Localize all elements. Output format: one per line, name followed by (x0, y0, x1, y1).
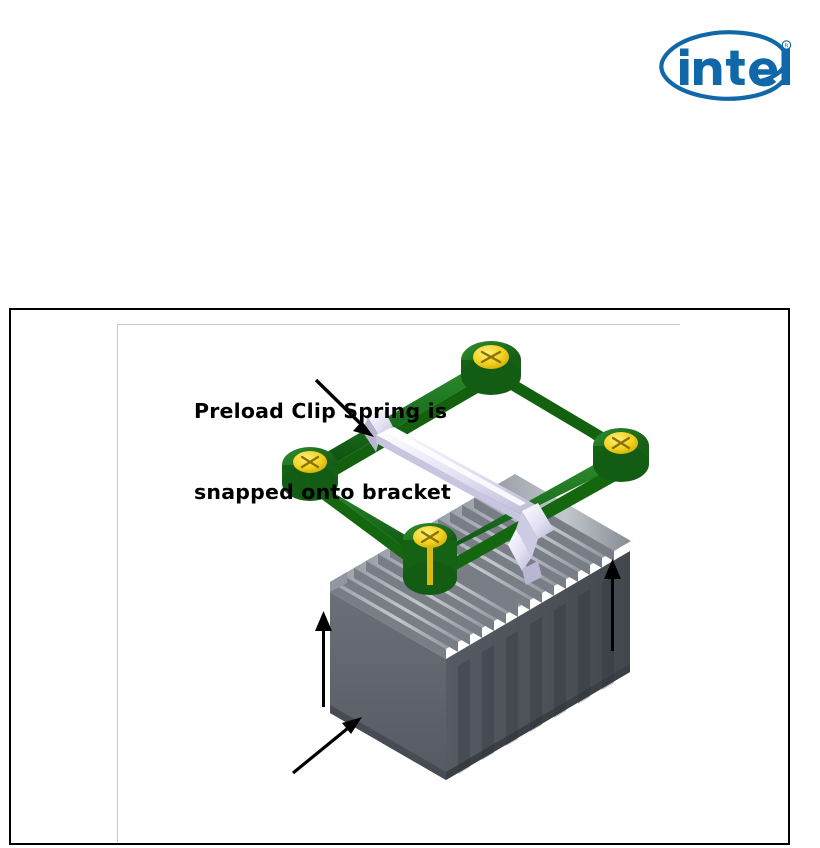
registered-mark-icon: R (782, 41, 790, 50)
bracket-corner-top (461, 341, 521, 395)
heatsink-assembly-illustration: Preload Clip Spring is snapped onto brac… (117, 324, 680, 842)
callout-preload-line1: Preload Clip Spring is (194, 398, 451, 425)
intel-logo-svg: R (636, 28, 792, 106)
callout-heat-sink: Heat sink is snapped into bracket (235, 792, 488, 842)
figure-box: Preload Clip Spring is snapped onto brac… (9, 308, 790, 845)
intel-logo: R (636, 28, 792, 106)
bracket-corner-right (593, 428, 649, 482)
left-up-arrow (315, 611, 332, 707)
callout-preload-line2: snapped onto bracket (194, 479, 451, 506)
arrow-to-heat-sink (293, 717, 362, 773)
svg-text:R: R (785, 43, 789, 49)
intel-wordmark (680, 49, 790, 87)
callout-preload-clip-spring: Preload Clip Spring is snapped onto brac… (194, 344, 451, 560)
